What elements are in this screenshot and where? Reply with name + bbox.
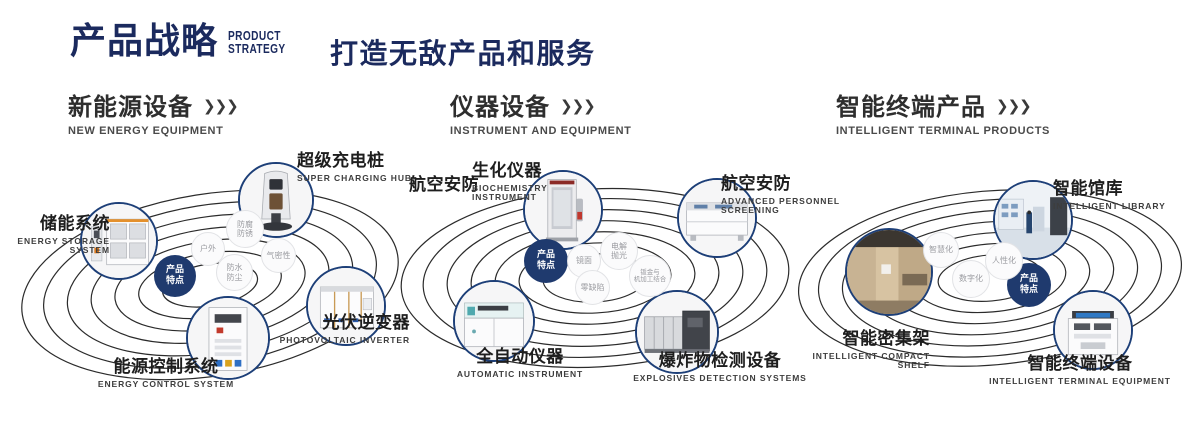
section-title-cn-text: 新能源设备 (68, 94, 193, 120)
feature-bubble-user-friendly[interactable]: 人性化 (985, 242, 1023, 280)
core-bubble-product-features[interactable]: 产品 特点 (155, 256, 195, 296)
label-energy-control-system: 能源控制系统 ENERGY CONTROL SYSTEM (56, 358, 276, 389)
label-cn: 能源控制系统 (56, 358, 276, 378)
feature-line-2: 防锈 (237, 229, 253, 238)
feature-bubble-text: 数字化 (959, 274, 983, 283)
section-title-en: INTELLIGENT TERMINAL PRODUCTS (836, 125, 1050, 137)
main-title-block: 产品战略 PRODUCT STRATEGY (70, 24, 302, 60)
chevron-right-icon: ❯❯❯ (560, 98, 595, 115)
feature-bubble-sheet-metal-machining[interactable]: 钣金与 机加工结合 (629, 255, 671, 297)
main-title-en: PRODUCT STRATEGY (228, 29, 286, 55)
label-intelligent-library: 智能馆库 INTELLIGENT LIBRARY (1053, 180, 1166, 211)
poster-canvas: 产品战略 PRODUCT STRATEGY 打造无敌产品和服务 新能源设备 ❯❯… (0, 0, 1200, 422)
label-cn: 智能终端设备 (960, 355, 1200, 375)
section-title-en: INSTRUMENT AND EQUIPMENT (450, 125, 631, 137)
core-line-1: 产品 (537, 250, 555, 261)
feature-bubble-airtightness[interactable]: 气密性 (261, 238, 296, 273)
feature-bubble-intelligent[interactable]: 智慧化 (923, 232, 959, 268)
feature-bubble-text: 零缺陷 (581, 283, 605, 292)
core-bubble-text: 产品 特点 (1020, 274, 1038, 296)
feature-bubble-waterproof-dustproof[interactable]: 防水 防尘 (216, 254, 253, 291)
section-title-cn: 智能终端产品 ❯❯❯ (836, 94, 1050, 120)
label-cn: 智能密集架 (700, 330, 930, 350)
feature-line-1: 电解 (611, 242, 627, 251)
feature-bubble-digital[interactable]: 数字化 (952, 260, 990, 298)
label-cn: 光伏逆变器 (190, 314, 410, 334)
label-photovoltaic-inverter: 光伏逆变器 PHOTOVOLTAIC INVERTER (190, 314, 410, 345)
feature-line-2: 抛光 (611, 251, 627, 260)
label-cn: 航空安防 (409, 176, 479, 196)
label-intelligent-terminal-equipment: 智能终端设备 INTELLIGENT TERMINAL EQUIPMENT (960, 355, 1200, 386)
label-intelligent-compact-shelf: 智能密集架 INTELLIGENT COMPACT SHELF (700, 330, 930, 371)
section-title-cn: 仪器设备 ❯❯❯ (450, 94, 631, 120)
label-en-line1: INTELLIGENT TERMINAL EQUIPMENT (960, 377, 1200, 387)
feature-line-1: 防腐 (237, 220, 253, 229)
main-subtitle: 打造无敌产品和服务 (330, 32, 596, 72)
feature-bubble-text: 气密性 (267, 251, 291, 260)
feature-bubble-text: 人性化 (992, 256, 1016, 265)
label-en-line1: INTELLIGENT LIBRARY (1053, 202, 1166, 212)
section-title-cn: 新能源设备 ❯❯❯ (68, 94, 238, 120)
core-line-2: 特点 (166, 276, 184, 287)
label-cn: 储能系统 (0, 215, 110, 235)
node-intelligent-compact-shelf[interactable] (845, 228, 933, 316)
core-bubble-text: 产品 特点 (537, 250, 555, 272)
label-en-line2: SHELF (700, 361, 930, 371)
feature-line-2: 防尘 (227, 273, 243, 282)
label-automatic-instrument: 全自动仪器 AUTOMATIC INSTRUMENT (415, 348, 625, 379)
section-title-cn-text: 仪器设备 (450, 94, 550, 120)
section-title-cn-text: 智能终端产品 (836, 94, 986, 120)
feature-line-2: 机加工结合 (634, 276, 667, 283)
section-title-intelligent-terminal: 智能终端产品 ❯❯❯ INTELLIGENT TERMINAL PRODUCTS (836, 94, 1050, 137)
label-en-line1: AUTOMATIC INSTRUMENT (415, 370, 625, 380)
label-en-line1: INTELLIGENT COMPACT (700, 352, 930, 362)
label-en-line2: SYSTEM (0, 246, 110, 256)
feature-bubble-text: 钣金与 机加工结合 (634, 269, 667, 284)
core-bubble-text: 产品 特点 (166, 265, 184, 287)
feature-bubble-text: 防腐 防锈 (237, 220, 253, 238)
label-en-line1: PHOTOVOLTAIC INVERTER (190, 336, 410, 346)
section-title-new-energy: 新能源设备 ❯❯❯ NEW ENERGY EQUIPMENT (68, 94, 238, 137)
chevron-right-icon: ❯❯❯ (203, 98, 238, 115)
feature-bubble-text: 电解 抛光 (611, 242, 627, 260)
section-title-instrument: 仪器设备 ❯❯❯ INSTRUMENT AND EQUIPMENT (450, 94, 631, 137)
label-energy-storage-system: 储能系统 ENERGY STORAGE SYSTEM (0, 215, 110, 256)
feature-bubble-text: 户外 (200, 244, 216, 253)
chevron-right-icon: ❯❯❯ (996, 98, 1031, 115)
label-cn: 全自动仪器 (415, 348, 625, 368)
main-title-cn: 产品战略 (70, 24, 218, 60)
label-biochemistry-instrument: 生化仪器 BIOCHEMISTRY INSTRUMENT (472, 162, 548, 203)
feature-line-1: 防水 (227, 263, 243, 272)
label-cn: 生化仪器 (472, 162, 548, 182)
core-line-2: 特点 (1020, 285, 1038, 296)
feature-bubble-zero-defect[interactable]: 零缺陷 (575, 270, 610, 305)
feature-bubble-text: 智慧化 (929, 245, 953, 254)
label-aviation-security-left: 航空安防 (409, 176, 479, 196)
main-title-en-line2: STRATEGY (228, 42, 286, 55)
feature-bubble-anti-corrosion[interactable]: 防腐 防锈 (226, 210, 264, 248)
core-line-1: 产品 (1020, 274, 1038, 285)
feature-bubble-text: 防水 防尘 (227, 263, 243, 281)
core-line-1: 产品 (166, 265, 184, 276)
intelligent-compact-shelf-image (847, 230, 931, 314)
core-line-2: 特点 (537, 261, 555, 272)
section-title-en: NEW ENERGY EQUIPMENT (68, 125, 238, 137)
core-bubble-product-features[interactable]: 产品 特点 (525, 240, 567, 282)
feature-bubble-text: 镜面 (576, 256, 592, 265)
label-en-line2: INSTRUMENT (472, 193, 548, 203)
label-en-line1: ENERGY CONTROL SYSTEM (56, 380, 276, 390)
label-cn: 智能馆库 (1053, 180, 1166, 200)
